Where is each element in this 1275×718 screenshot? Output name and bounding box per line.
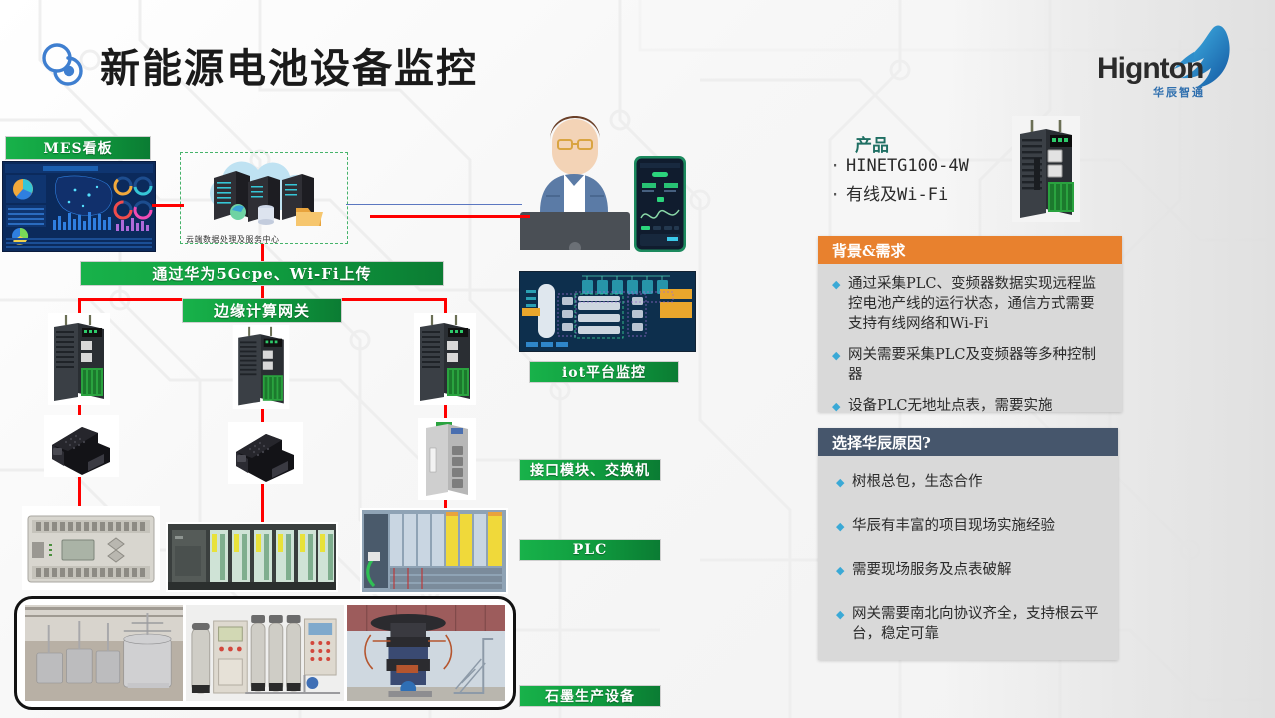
- diamond-bullet-icon: ◆: [832, 345, 848, 385]
- panel-header: 背景&需求: [818, 236, 1122, 264]
- list-item: ◆ 需要现场服务及点表破解: [836, 560, 1104, 582]
- product-item-0: ·HINETG100-4W: [830, 156, 969, 176]
- slide-canvas: 新能源电池设备监控 Hignton 华辰智通 MES看板: [0, 0, 1275, 718]
- panel-body: ◆ 树根总包，生态合作 ◆ 华辰有丰富的项目现场实施经验 ◆ 需要现场服务及点表…: [818, 456, 1118, 663]
- graphite-furnace-photo: [347, 605, 505, 701]
- mes-dashboard-screenshot: [2, 161, 156, 252]
- list-item: ◆ 设备PLC无地址点表，需要实施: [832, 396, 1108, 418]
- list-item: ◆ 华辰有丰富的项目现场实施经验: [836, 516, 1104, 538]
- hinetg100-gateway-photo: [1012, 116, 1080, 222]
- compact-plc: [22, 506, 160, 590]
- cloud-datacenter-illustration: [186, 156, 344, 236]
- edge-gateway-1: [48, 313, 110, 405]
- product-heading: 产品: [855, 131, 889, 156]
- profibus-interface-module-2: [228, 422, 303, 484]
- list-item: ◆ 网关需要南北向协议齐全，支持根云平台，稳定可靠: [836, 604, 1104, 644]
- siemens-et200-rack: [360, 508, 508, 594]
- brand-sub: 华辰智通: [1153, 84, 1205, 100]
- panel-header: 选择华辰原因?: [818, 428, 1118, 456]
- diamond-bullet-icon: ◆: [836, 516, 852, 538]
- page-title: 新能源电池设备监控: [100, 36, 478, 94]
- industrial-ethernet-switch: [418, 418, 476, 500]
- edge-gateway-2: [232, 325, 290, 409]
- siemens-s7-300-rack: [166, 522, 338, 592]
- product-item-1: ·有线及Wi-Fi: [830, 180, 948, 205]
- connector-cloud-to-laptop-red: [370, 215, 530, 218]
- mobile-dashboard-icon: [634, 156, 686, 252]
- edge-gateway-label: 边缘计算网关: [182, 298, 342, 323]
- diamond-bullet-icon: ◆: [832, 274, 848, 334]
- iot-platform-label: iot平台监控: [529, 361, 679, 383]
- panel-background-requirements: 背景&需求 ◆ 通过采集PLC、变频器数据实现远程监控电池产线的运行状态，通信方…: [818, 236, 1122, 412]
- connector-mes-to-cloud: [152, 204, 184, 207]
- reactor-tanks-photo: [25, 605, 183, 701]
- list-bullet-icon: ·: [830, 156, 846, 176]
- hignton-circle-icon: [38, 38, 90, 90]
- water-treatment-skid-photo: [186, 605, 344, 701]
- profibus-interface-module-1: [44, 415, 119, 477]
- list-item: ◆ 树根总包，生态合作: [836, 472, 1104, 494]
- equipment-label: 石墨生产设备: [519, 685, 661, 707]
- brand-logo: Hignton 华辰智通: [1095, 22, 1245, 100]
- equipment-photo-strip: [14, 596, 516, 710]
- upload-label: 通过华为5Gcpe、Wi-Fi上传: [80, 261, 444, 286]
- cloud-caption: 云端数据处理及服务中心: [186, 234, 280, 245]
- diamond-bullet-icon: ◆: [836, 560, 852, 582]
- operator-at-laptop-icon: [512, 100, 637, 250]
- diamond-bullet-icon: ◆: [832, 396, 848, 418]
- list-item: ◆ 网关需要采集PLC及变频器等多种控制器: [832, 345, 1108, 385]
- iot-hmi-screenshot: [519, 271, 696, 352]
- panel-body: ◆ 通过采集PLC、变频器数据实现远程监控电池产线的运行状态，通信方式需要支持有…: [818, 264, 1122, 437]
- panel-why-hignton: 选择华辰原因? ◆ 树根总包，生态合作 ◆ 华辰有丰富的项目现场实施经验 ◆ 需…: [818, 428, 1118, 660]
- plc-label: PLC: [519, 539, 661, 561]
- diamond-bullet-icon: ◆: [836, 604, 852, 644]
- diamond-bullet-icon: ◆: [836, 472, 852, 494]
- connector-cloud-to-upload: [261, 244, 264, 262]
- interface-switch-label: 接口模块、交换机: [519, 459, 661, 481]
- list-item: ◆ 通过采集PLC、变频器数据实现远程监控电池产线的运行状态，通信方式需要支持有…: [832, 274, 1108, 334]
- list-bullet-icon: ·: [830, 185, 846, 205]
- edge-gateway-3: [414, 313, 476, 405]
- brand-name: Hignton: [1097, 52, 1203, 86]
- connector-cloud-to-laptop: [346, 204, 522, 205]
- mes-label: MES看板: [5, 136, 151, 160]
